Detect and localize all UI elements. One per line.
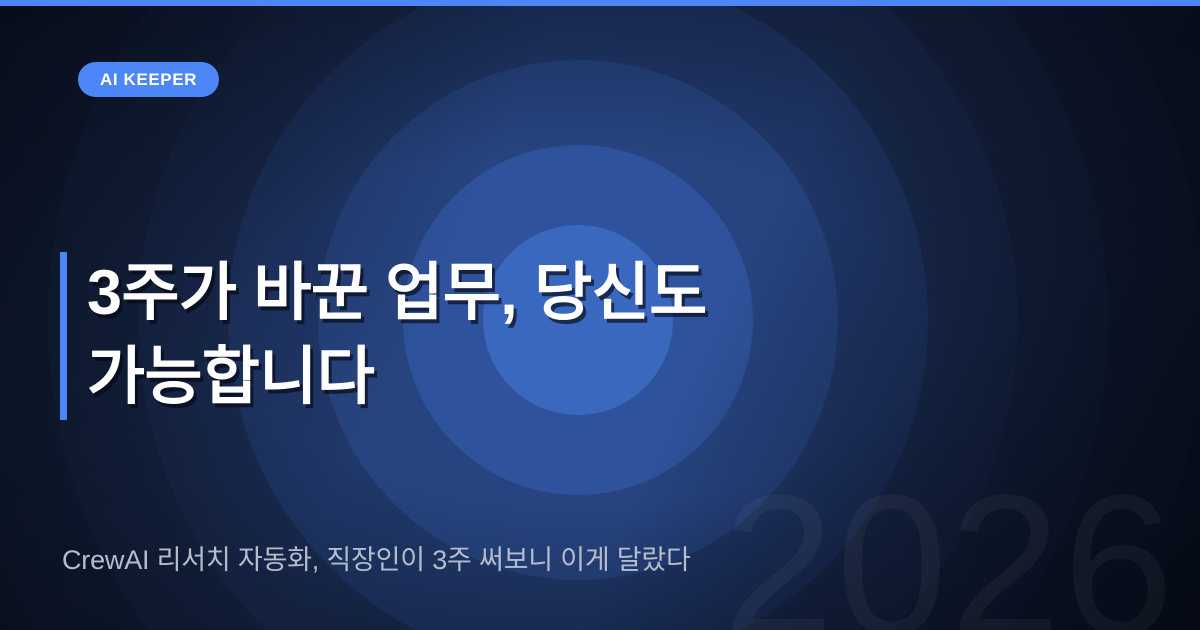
subtitle: CrewAI 리서치 자동화, 직장인이 3주 써보니 이게 달랐다 <box>62 538 691 577</box>
thumbnail-card: 2026 AI KEEPER 3주가 바꾼 업무, 당신도 가능합니다 Crew… <box>0 0 1200 630</box>
page-title: 3주가 바꾼 업무, 당신도 가능합니다 <box>87 252 707 420</box>
headline-accent-bar <box>60 252 67 420</box>
headline-block: 3주가 바꾼 업무, 당신도 가능합니다 <box>60 252 707 420</box>
brand-badge: AI KEEPER <box>78 62 219 97</box>
card-content: AI KEEPER 3주가 바꾼 업무, 당신도 가능합니다 CrewAI 리서… <box>0 0 1200 630</box>
top-accent-bar <box>0 0 1200 6</box>
